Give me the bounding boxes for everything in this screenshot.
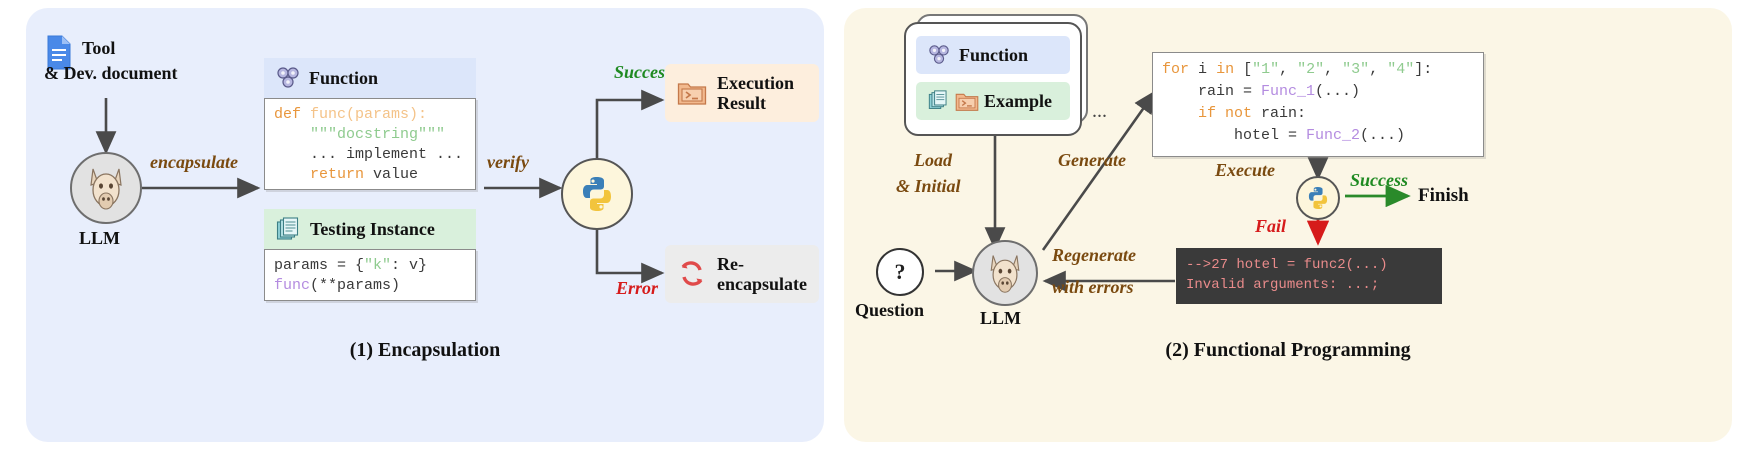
edge-label-encapsulate: encapsulate: [150, 152, 238, 173]
edge-label-verify: verify: [487, 152, 529, 173]
stack-function-label: Function: [959, 45, 1028, 66]
python-logo-icon: [577, 174, 617, 214]
testing-code-block: params = {"k": v} func(**params): [264, 249, 476, 301]
edge-label-success-panel2: Success: [1350, 170, 1408, 191]
diagram-canvas: Tool & Dev. document LLM encapsulate Fun…: [0, 0, 1758, 450]
panel2-caption: (2) Functional Programming: [844, 339, 1732, 362]
re-encapsulate-line1: Re-: [717, 254, 807, 274]
panel1-caption: (1) Encapsulation: [26, 339, 824, 362]
tool-label-line2: & Dev. document: [44, 63, 178, 84]
stack-example-label: Example: [984, 91, 1052, 112]
llm-avatar-panel1: [70, 152, 142, 224]
terminal-folder-icon: [955, 91, 979, 112]
execution-result-line2: Result: [717, 93, 794, 113]
function-card-header: Function: [264, 58, 476, 98]
edge-label-success-panel1: Success: [614, 62, 672, 83]
edge-label-regenerate-line2: with errors: [1052, 277, 1134, 298]
question-mark-icon: ?: [895, 259, 906, 285]
documents-icon: [928, 90, 950, 112]
function-card-title: Function: [309, 68, 378, 89]
execution-result-line1: Execution: [717, 73, 794, 93]
re-encapsulate-box: Re- encapsulate: [665, 245, 819, 303]
finish-label: Finish: [1418, 185, 1469, 207]
re-encapsulate-line2: encapsulate: [717, 274, 807, 294]
llm-label-panel2: LLM: [980, 308, 1021, 329]
llama-icon: [983, 250, 1027, 296]
function-code-block: def func(params): """docstring""" ... im…: [264, 98, 476, 190]
refresh-cycle-icon: [677, 260, 707, 288]
python-runtime-panel1: [561, 158, 633, 230]
stack-example-row: Example: [916, 82, 1070, 120]
tool-label-line1: Tool: [82, 38, 115, 59]
python-runtime-panel2: [1296, 176, 1340, 220]
edge-label-load-line1: Load: [914, 150, 952, 171]
gears-icon: [276, 66, 300, 90]
llm-avatar-panel2: [972, 240, 1038, 306]
edge-label-fail: Fail: [1255, 216, 1286, 237]
documents-icon: [276, 217, 301, 242]
stack-function-row: Function: [916, 36, 1070, 74]
question-label: Question: [855, 300, 924, 321]
terminal-folder-icon: [677, 80, 707, 106]
edge-label-error: Error: [616, 278, 658, 299]
testing-card-header: Testing Instance: [264, 209, 476, 249]
stack-ellipsis: ...: [1092, 100, 1107, 123]
python-logo-icon: [1305, 185, 1331, 211]
question-bubble: ?: [876, 248, 924, 296]
testing-card-title: Testing Instance: [310, 219, 435, 240]
llm-label-panel1: LLM: [79, 228, 120, 249]
execution-result-box: Execution Result: [665, 64, 819, 122]
edge-label-regenerate-line1: Regenerate: [1052, 245, 1136, 266]
gears-icon: [928, 44, 950, 66]
error-terminal: -->27 hotel = func2(...) Invalid argumen…: [1176, 248, 1442, 304]
llama-icon: [82, 163, 130, 213]
edge-label-generate: Generate: [1058, 150, 1126, 171]
edge-label-load-line2: & Initial: [896, 176, 961, 197]
edge-label-execute: Execute: [1215, 160, 1275, 181]
generated-code-block: for i in ["1", "2", "3", "4"]: rain = Fu…: [1152, 52, 1484, 157]
